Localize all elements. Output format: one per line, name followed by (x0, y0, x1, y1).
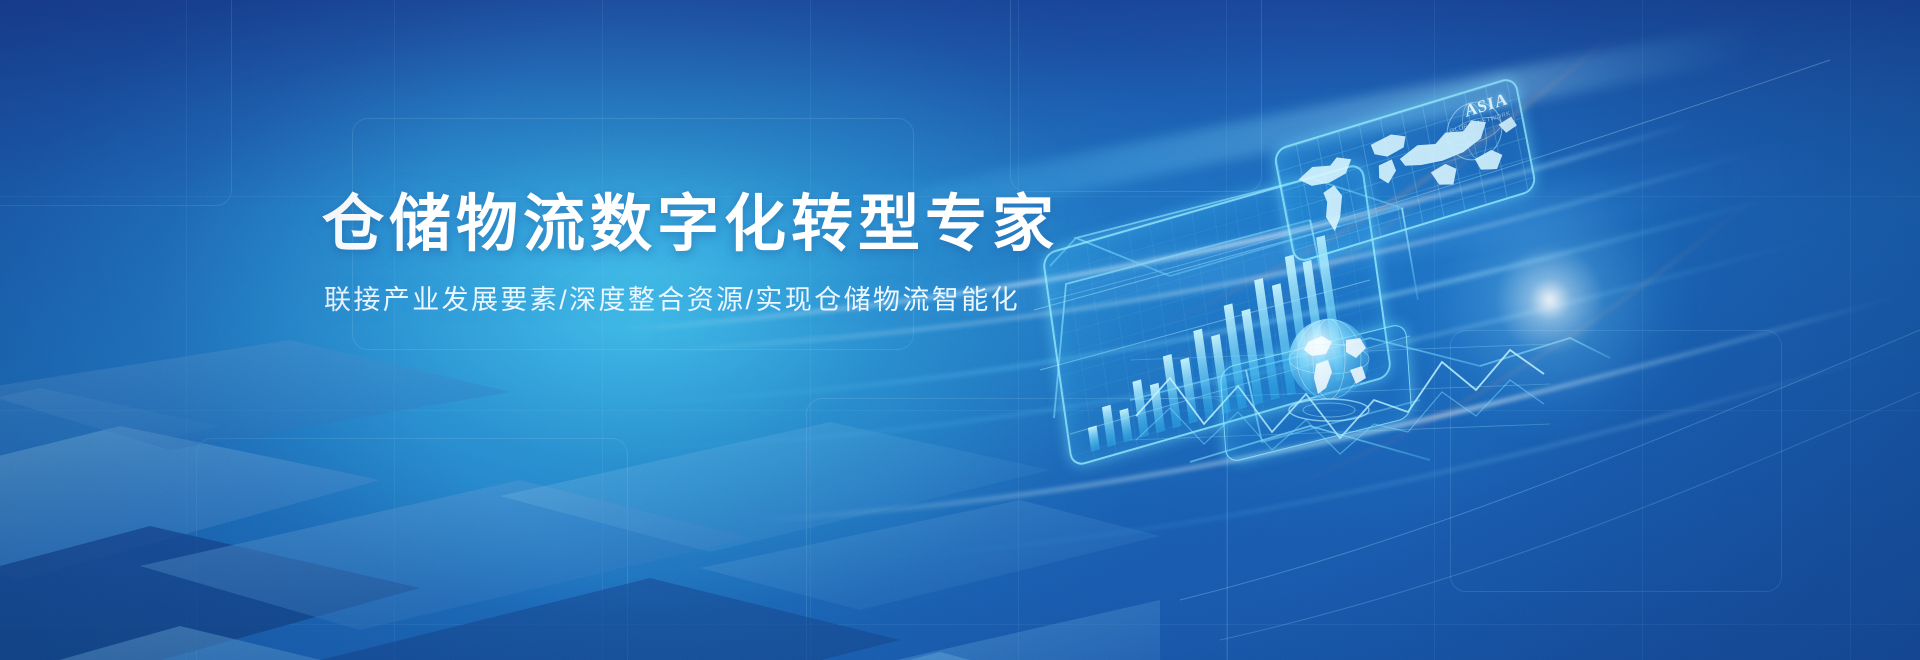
hero-banner: ASIA GLOBAL NETWORK (0, 0, 1920, 660)
background-vignette (0, 0, 1920, 660)
